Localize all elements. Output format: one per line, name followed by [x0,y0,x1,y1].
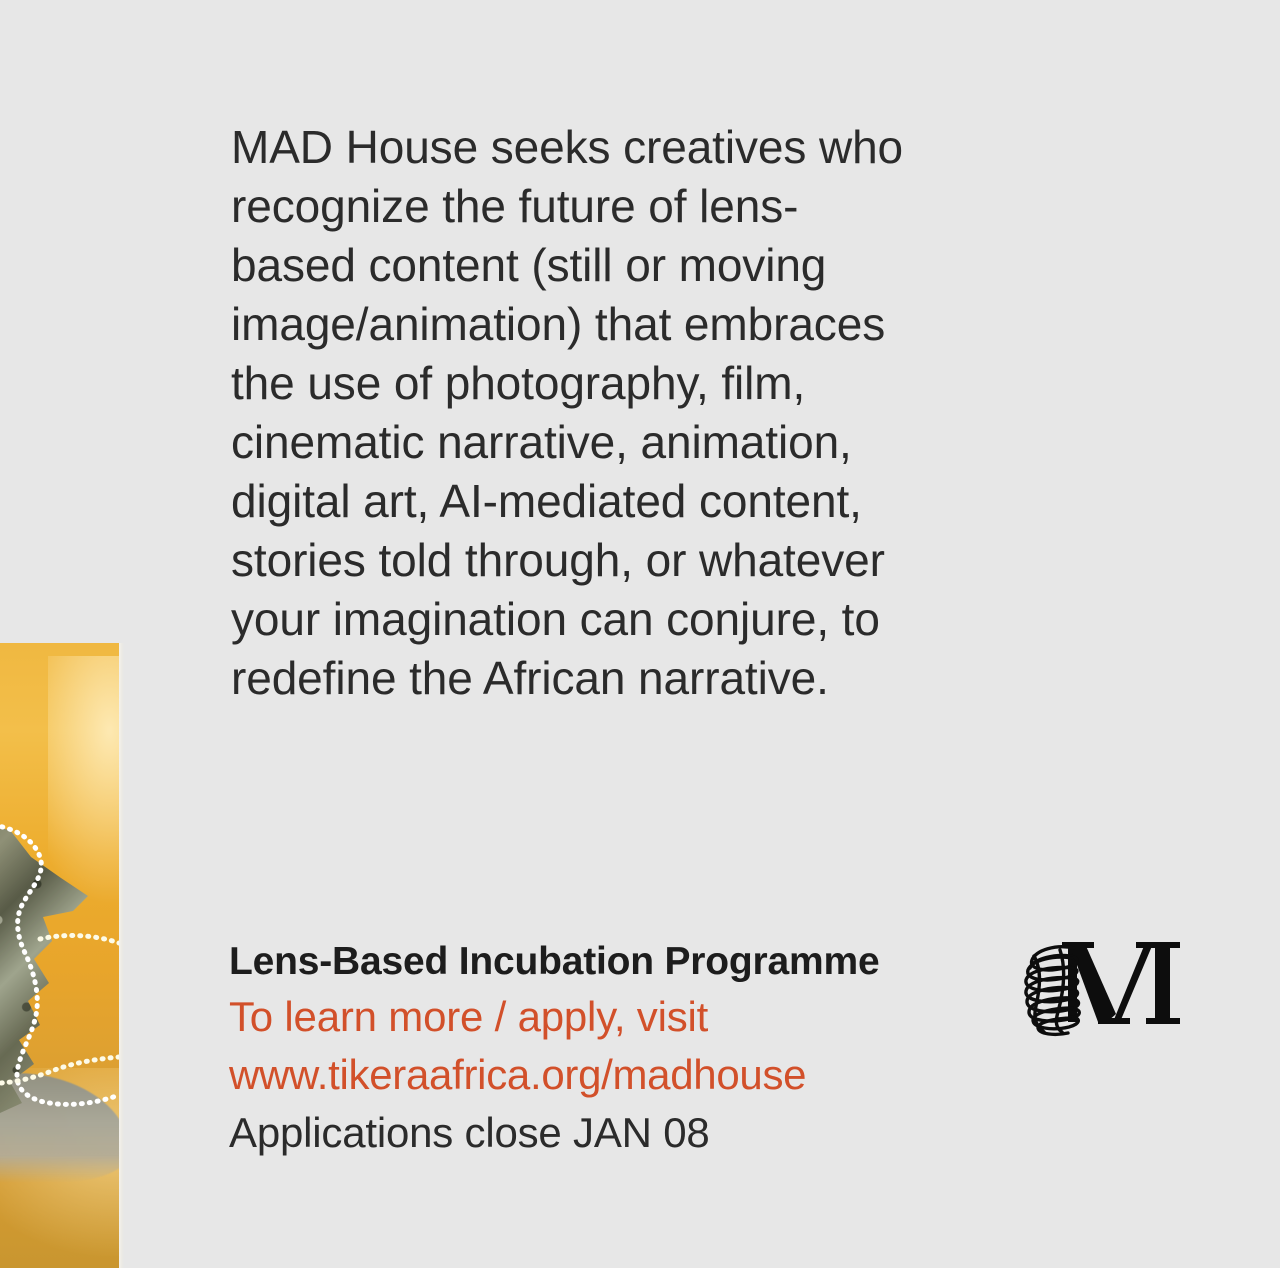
apply-prompt: To learn more / apply, visit [229,988,969,1046]
body-paragraph: MAD House seeks creatives who recognize … [231,118,931,708]
m-monogram-icon [1012,928,1192,1048]
body-line: recognize the future of lens- [231,177,931,236]
body-line: MAD House seeks creatives who [231,118,931,177]
application-deadline: Applications close JAN 08 [229,1104,969,1162]
footer-block: Lens-Based Incubation Programme To learn… [229,936,969,1162]
body-line: your imagination can conjure, to [231,590,931,649]
body-line: the use of photography, film, [231,354,931,413]
poster-canvas: MAD House seeks creatives who recognize … [0,0,1280,1268]
mad-house-logo [1012,928,1192,1048]
photo-dotted-trail-icon [0,643,119,1268]
cropped-photo-strip [0,643,119,1268]
body-line: based content (still or moving [231,236,931,295]
body-line: stories told through, or whatever [231,531,931,590]
body-line: digital art, AI-mediated content, [231,472,931,531]
application-url-link[interactable]: www.tikeraafrica.org/madhouse [229,1046,969,1104]
body-line: redefine the African narrative. [231,649,931,708]
photo-strip-edge [119,643,124,1268]
body-line: image/animation) that embraces [231,295,931,354]
programme-title: Lens-Based Incubation Programme [229,936,969,988]
body-line: cinematic narrative, animation, [231,413,931,472]
